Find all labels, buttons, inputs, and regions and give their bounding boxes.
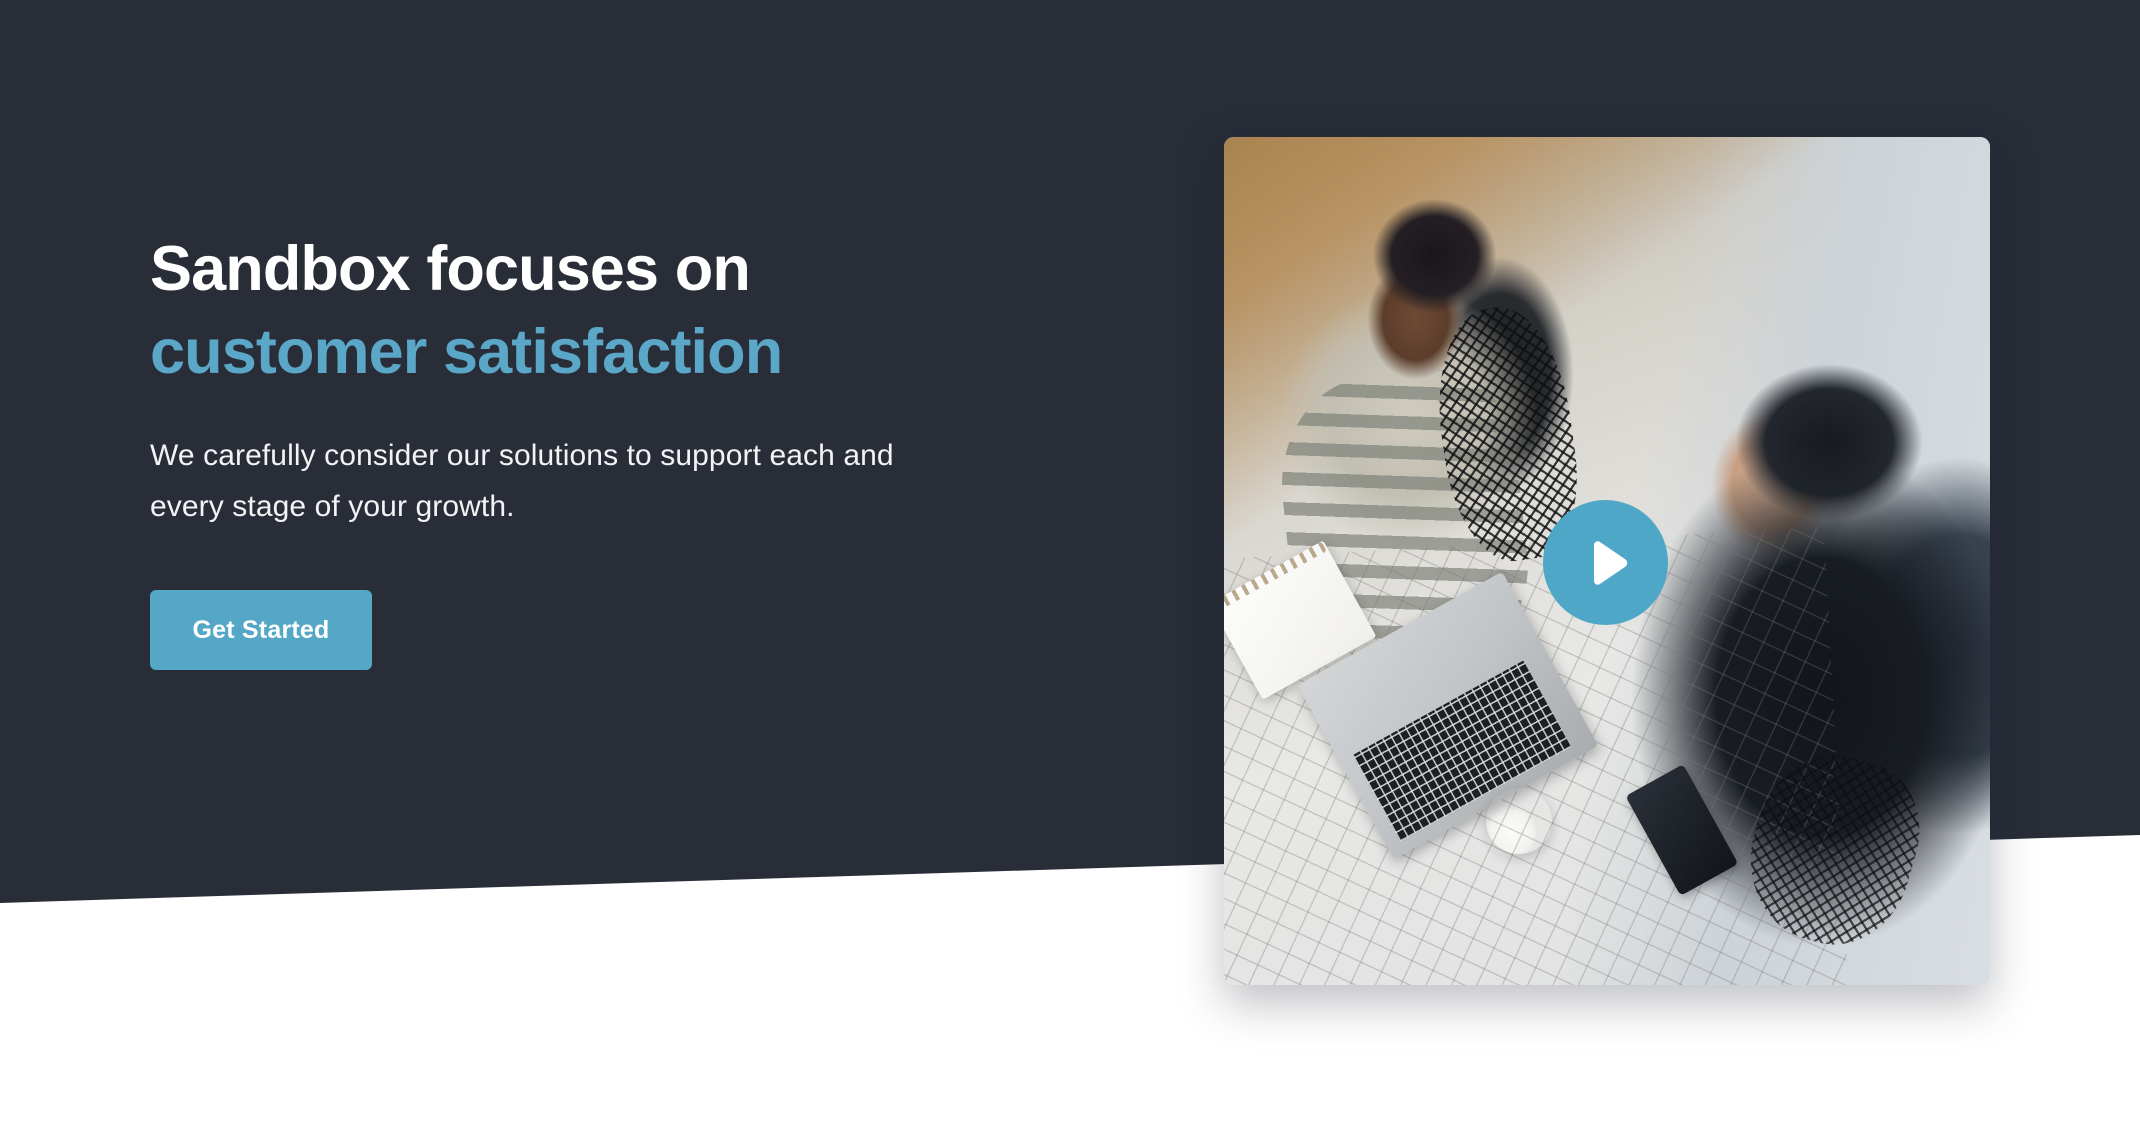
play-icon [1582, 540, 1630, 586]
heading-line-primary: Sandbox focuses on [150, 234, 750, 304]
coffee-cup [1486, 788, 1552, 854]
page-title: Sandbox focuses oncustomer satisfaction [150, 228, 930, 394]
get-started-button[interactable]: Get Started [150, 590, 372, 670]
hero-section: Sandbox focuses oncustomer satisfaction … [0, 0, 2140, 1124]
heading-line-accent: customer satisfaction [150, 311, 930, 394]
hero-copy-column: Sandbox focuses oncustomer satisfaction … [150, 228, 930, 670]
hero-subheading: We carefully consider our solutions to s… [150, 430, 910, 532]
play-video-button[interactable] [1543, 500, 1668, 625]
